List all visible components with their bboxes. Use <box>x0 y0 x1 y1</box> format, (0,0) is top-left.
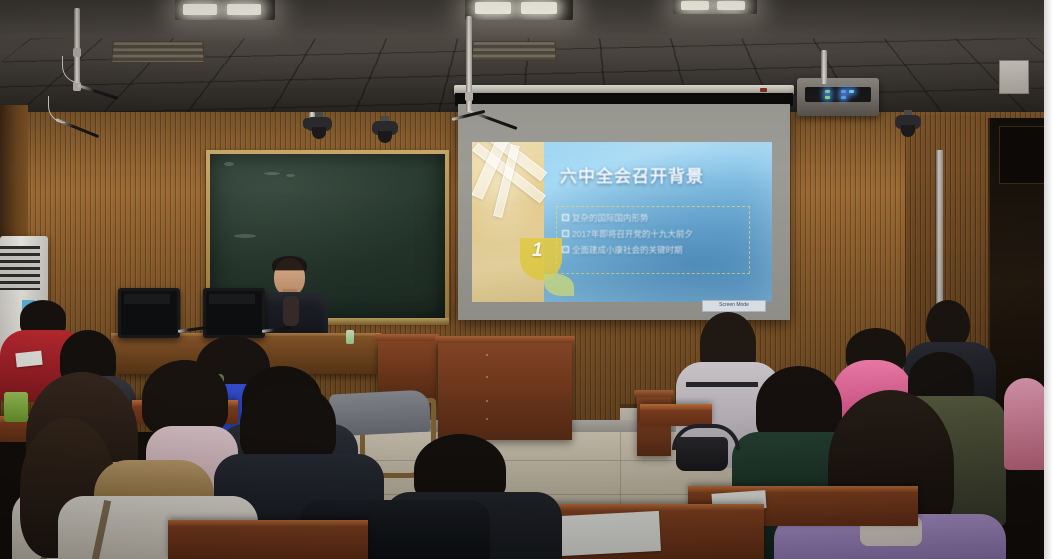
desk-back-panel <box>438 342 572 440</box>
ceiling-light-fixture <box>175 0 275 20</box>
lecture-hall-photo: 1 六中全会召开背景 复杂的国际国内形势 2017年即将召开党的十九大前夕 全面… <box>0 0 1053 559</box>
speaker-shirt <box>283 296 299 326</box>
bullet-square-icon <box>562 230 569 237</box>
student-desk <box>168 520 368 559</box>
image-right-border <box>1044 0 1053 559</box>
microphone-pole <box>466 16 472 112</box>
paper-sheet <box>15 351 42 368</box>
slide-title: 六中全会召开背景 <box>560 162 704 187</box>
projection-screen: 1 六中全会召开背景 复杂的国际国内形势 2017年即将召开党的十九大前夕 全面… <box>458 104 790 320</box>
door-window <box>999 126 1045 184</box>
slide-bullet-item: 2017年即将召开党的十九大前夕 <box>562 228 693 240</box>
handbag <box>676 437 728 471</box>
slide-bullet-item: 复杂的国际国内形势 <box>562 212 649 224</box>
projector-mount-pole <box>821 50 827 84</box>
bullet-square-icon <box>562 246 569 253</box>
pole-joint <box>465 92 473 101</box>
slide-bullet-item: 全面建成小康社会的关键时期 <box>562 244 683 256</box>
screen-watermark-label: Screen Mode <box>702 300 766 312</box>
roller-label-dot <box>760 88 767 92</box>
slide-badge-number: 1 <box>532 240 543 262</box>
water-bottle <box>346 330 354 344</box>
wall-mounted-box <box>999 60 1029 94</box>
podium-monitor <box>203 288 265 338</box>
ceiling-vent <box>111 41 205 63</box>
student-desk <box>640 404 712 426</box>
podium-monitor <box>118 288 180 338</box>
ceiling-light-fixture <box>673 0 757 14</box>
presentation-slide: 1 六中全会召开背景 复杂的国际国内形势 2017年即将召开党的十九大前夕 全面… <box>472 142 772 302</box>
bullet-square-icon <box>562 214 569 221</box>
slide-leaf-decoration <box>544 274 574 296</box>
air-conditioner-grille <box>0 246 40 290</box>
water-bottle <box>4 392 28 422</box>
ceiling-light-fixture <box>465 0 573 20</box>
projector-vent-slot <box>805 87 871 102</box>
ceiling-vent <box>471 41 556 61</box>
